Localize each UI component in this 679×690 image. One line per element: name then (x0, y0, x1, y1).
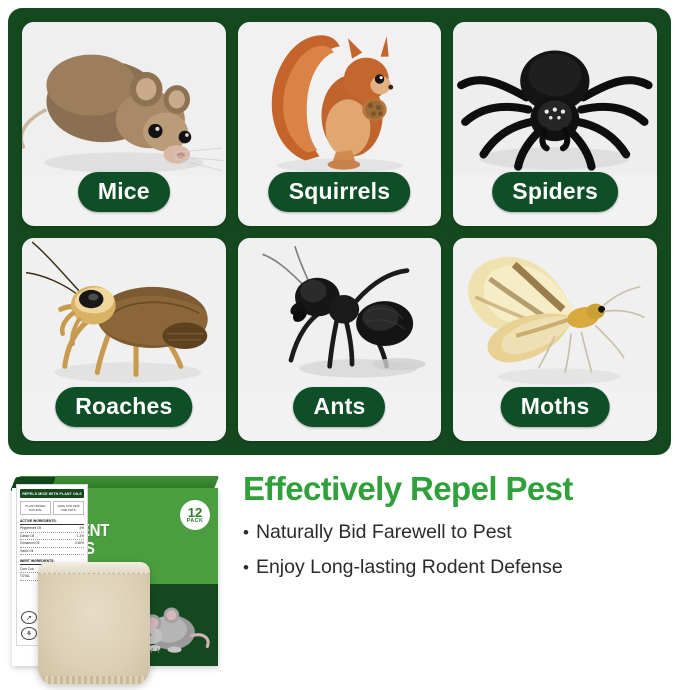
pest-card-squirrels[interactable]: Squirrels (238, 22, 442, 226)
pest-label-ants: Ants (294, 387, 386, 427)
pack-count-badge: 12 PACK (180, 500, 210, 530)
product-feature-image: Mice (0, 0, 679, 690)
pest-label-moths: Moths (501, 387, 610, 427)
benefit-list: • Naturally Bid Farewell to Pest • Enjoy… (243, 522, 673, 579)
product-pack-shot: MOUSE REPELLENT POUCHES 12 PACK (2, 466, 234, 688)
benefit-text: Naturally Bid Farewell to Pest (256, 522, 512, 543)
pest-label-spiders: Spiders (492, 172, 618, 212)
moth-photo (453, 238, 657, 391)
roach-photo (22, 238, 226, 391)
headline: Effectively Repel Pest (243, 470, 673, 508)
ingredient-row: Garlic Oil (20, 548, 84, 556)
mouse-photo (22, 22, 226, 175)
ingredient-row: Peppermint Oil 4% (20, 525, 84, 533)
benefit-item: • Enjoy Long-lasting Rodent Defense (243, 557, 673, 578)
pest-grid-panel: Mice (8, 8, 671, 455)
marketing-copy: Effectively Repel Pest • Naturally Bid F… (243, 470, 673, 593)
bullet-marker-icon: • (243, 524, 249, 541)
label-banner: REPELS MICE WITH PLANT OILS (20, 489, 84, 498)
repellent-pouch (38, 562, 150, 684)
ant-photo (238, 238, 442, 391)
pest-card-ants[interactable]: Ants (238, 238, 442, 442)
keep-away-icon: ⚘ (21, 627, 37, 640)
pest-card-roaches[interactable]: Roaches (22, 238, 226, 442)
pest-label-mice: Mice (78, 172, 170, 212)
pack-count-label: PACK (187, 519, 204, 525)
product-and-copy-section: MOUSE REPELLENT POUCHES 12 PACK (0, 458, 679, 690)
benefit-item: • Naturally Bid Farewell to Pest (243, 522, 673, 543)
pest-card-moths[interactable]: Moths (453, 238, 657, 442)
ingredient-row: Cinnamon Oil 0.50% (20, 540, 84, 548)
label-claim-1: SAFE FOR KIDS AND PETS (53, 501, 84, 515)
spider-photo (453, 22, 657, 175)
pest-card-spiders[interactable]: Spiders (453, 22, 657, 226)
label-claims: PLANT-BASED NATURAL SAFE FOR KIDS AND PE… (20, 501, 84, 515)
no-spray-icon: ➚ (21, 611, 37, 624)
pest-label-roaches: Roaches (55, 387, 192, 427)
benefit-text: Enjoy Long-lasting Rodent Defense (256, 557, 563, 578)
ingredient-row: Castor Oil 1.3% (20, 533, 84, 541)
pest-card-mice[interactable]: Mice (22, 22, 226, 226)
label-claim-0: PLANT-BASED NATURAL (20, 501, 51, 515)
squirrel-photo (238, 22, 442, 175)
bullet-marker-icon: • (243, 559, 249, 576)
pest-label-squirrels: Squirrels (269, 172, 411, 212)
pack-count-number: 12 (188, 506, 202, 519)
